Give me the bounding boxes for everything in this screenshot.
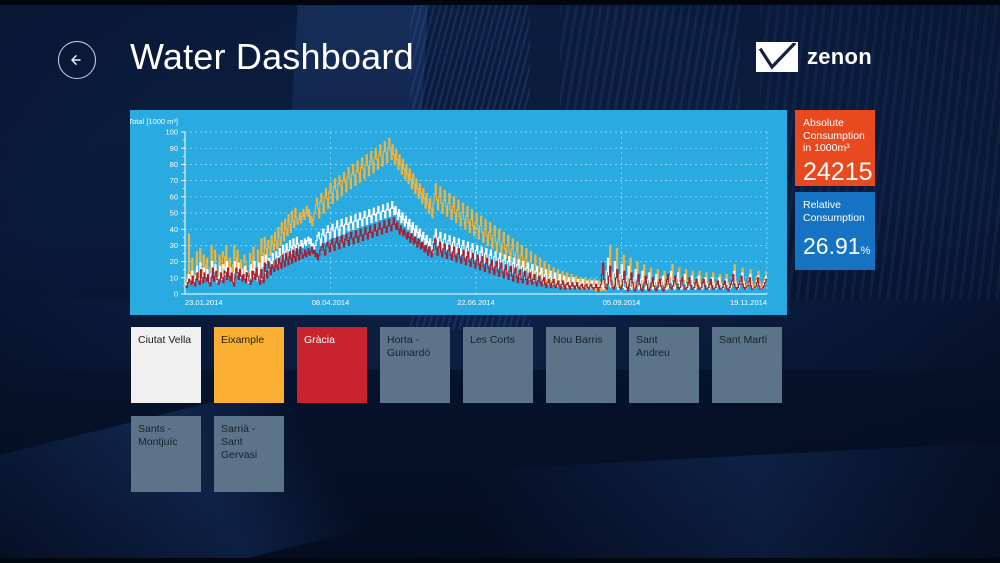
district-tile[interactable]: Nou Barris	[546, 327, 616, 403]
brand-logo: zenon	[756, 42, 872, 72]
header: Water Dashboard zenon	[0, 0, 1000, 110]
kpi-relative-value: 26.91%	[803, 235, 868, 258]
kpi-relative-number: 26.91	[803, 233, 861, 259]
y-axis-tick-label: 90	[170, 144, 178, 153]
district-tile-label: Horta - Guinardó	[387, 334, 444, 360]
district-tile[interactable]: Sants - Montjuïc	[131, 416, 201, 492]
district-tile-grid: Ciutat VellaEixampleGràciaHorta - Guinar…	[131, 327, 811, 505]
back-button[interactable]	[58, 41, 96, 79]
y-axis-tick-label: 30	[170, 241, 178, 250]
y-axis-tick-label: 50	[170, 209, 178, 218]
brand-name: zenon	[807, 44, 872, 70]
kpi-absolute-label: Absolute Consumption in 1000m³	[803, 117, 868, 155]
x-axis-tick-label: 23.01.2014	[185, 298, 223, 307]
district-tile-label: Sant Andreu	[636, 334, 693, 360]
kpi-absolute-consumption[interactable]: Absolute Consumption in 1000m³ 24215	[795, 110, 875, 186]
back-arrow-icon	[67, 50, 87, 70]
x-axis-tick-label: 05.09.2014	[603, 298, 641, 307]
consumption-chart[interactable]: Total [1000 m³]010203040506070809010023.…	[130, 110, 787, 315]
district-tile-label: Gràcia	[304, 334, 361, 347]
page-title: Water Dashboard	[130, 36, 414, 78]
district-tile-label: Ciutat Vella	[138, 334, 195, 347]
kpi-absolute-value: 24215	[803, 160, 868, 185]
zenon-check-logo-icon	[756, 42, 798, 72]
x-axis-tick-label: 22.06.2014	[457, 298, 495, 307]
kpi-relative-consumption[interactable]: Relative Consumption 26.91%	[795, 192, 875, 270]
district-tile-row-1: Ciutat VellaEixampleGràciaHorta - Guinar…	[131, 327, 811, 403]
kpi-relative-label: Relative Consumption	[803, 199, 868, 224]
district-tile[interactable]: Horta - Guinardó	[380, 327, 450, 403]
y-axis-label: Total [1000 m³]	[130, 117, 178, 126]
y-axis-tick-label: 40	[170, 225, 178, 234]
district-tile[interactable]: Gràcia	[297, 327, 367, 403]
district-tile-label: Sarrià - Sant Gervasi	[221, 423, 278, 462]
y-axis-tick-label: 20	[170, 257, 178, 266]
district-tile-row-2: Sants - MontjuïcSarrià - Sant Gervasi	[131, 416, 811, 492]
x-axis-tick-label: 19.11.2014	[730, 298, 767, 307]
kpi-relative-unit: %	[861, 245, 871, 257]
district-tile[interactable]: Sarrià - Sant Gervasi	[214, 416, 284, 492]
y-axis-tick-label: 0	[174, 290, 178, 299]
district-tile[interactable]: Eixample	[214, 327, 284, 403]
district-tile-label: Les Corts	[470, 334, 527, 347]
consumption-chart-panel[interactable]: Total [1000 m³]010203040506070809010023.…	[130, 110, 787, 315]
district-tile[interactable]: Sant Martí	[712, 327, 782, 403]
y-axis-tick-label: 100	[165, 128, 178, 137]
background-edge-bottom	[0, 558, 1000, 563]
district-tile[interactable]: Les Corts	[463, 327, 533, 403]
x-axis-tick-label: 08.04.2014	[312, 298, 350, 307]
y-axis-tick-label: 70	[170, 176, 178, 185]
district-tile-label: Sant Martí	[719, 334, 776, 347]
y-axis-tick-label: 10	[170, 273, 178, 282]
y-axis-tick-label: 60	[170, 192, 178, 201]
district-tile[interactable]: Sant Andreu	[629, 327, 699, 403]
district-tile[interactable]: Ciutat Vella	[131, 327, 201, 403]
district-tile-label: Eixample	[221, 334, 278, 347]
district-tile-label: Sants - Montjuïc	[138, 423, 195, 449]
y-axis-tick-label: 80	[170, 160, 178, 169]
district-tile-label: Nou Barris	[553, 334, 610, 347]
water-dashboard-app: Water Dashboard zenon Total [1000 m³]010…	[0, 0, 1000, 563]
